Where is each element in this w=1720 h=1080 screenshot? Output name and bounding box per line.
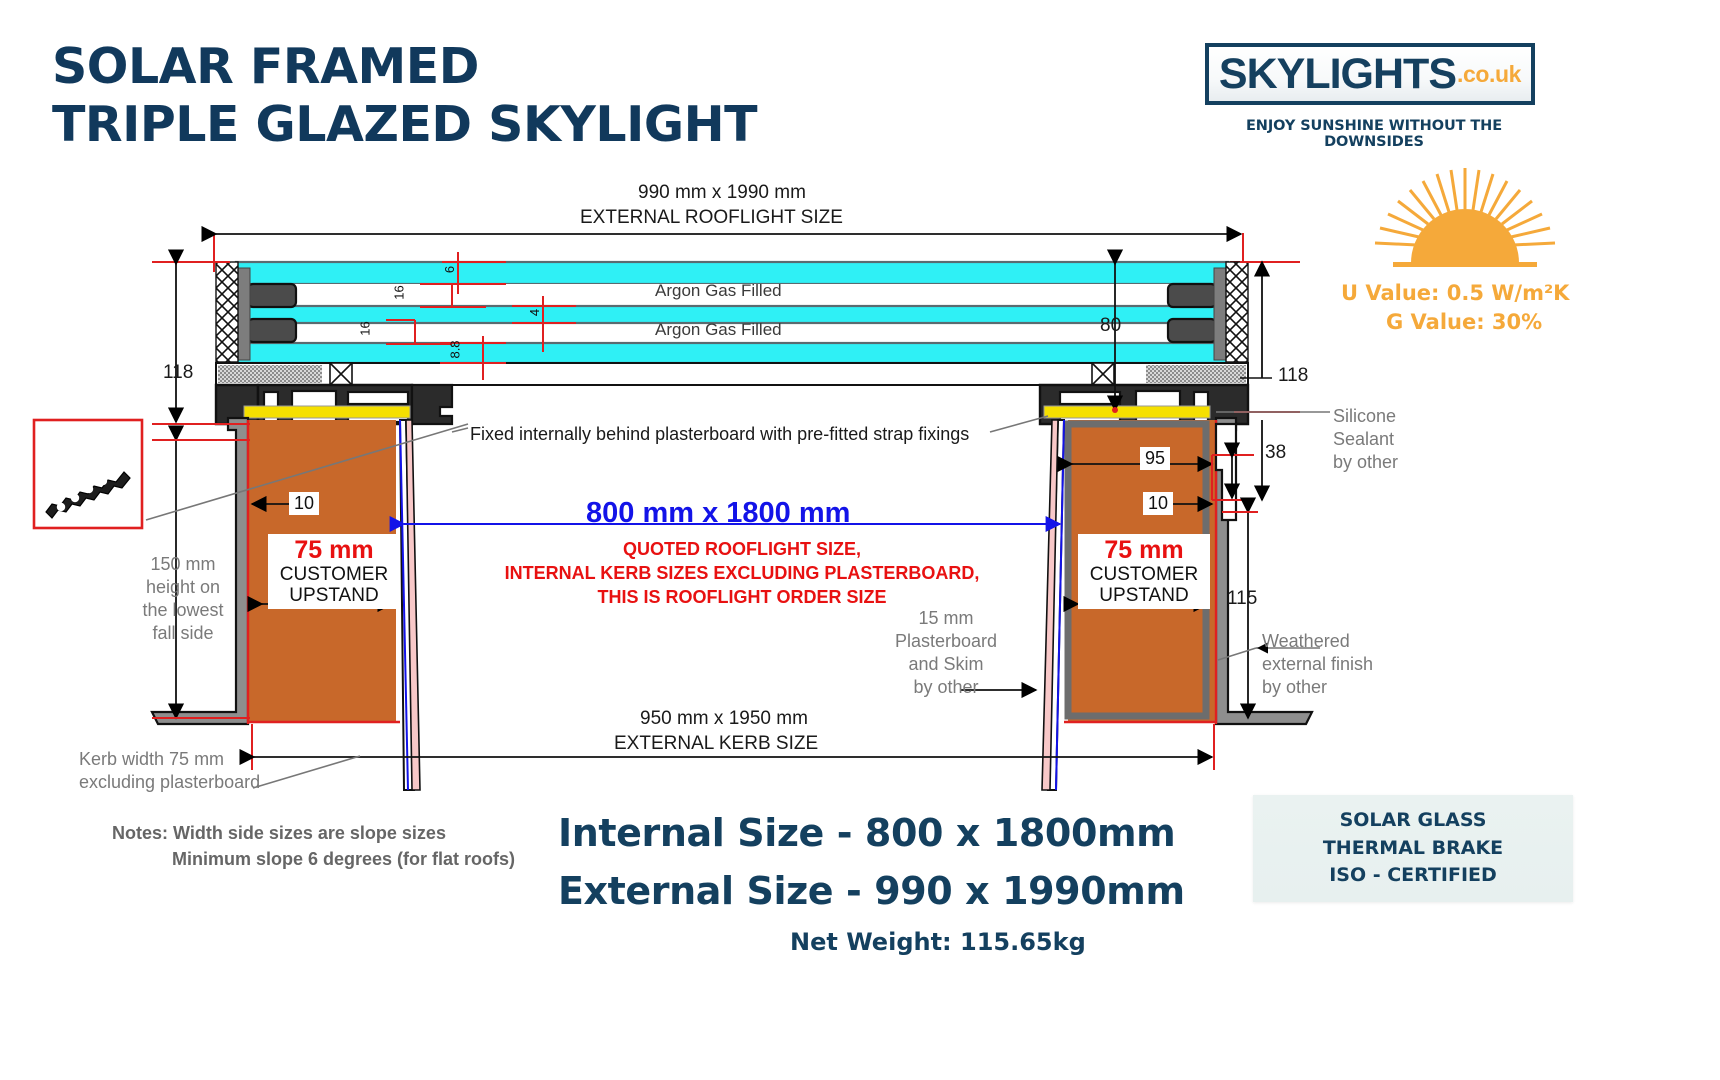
- plasterboard-line-4: by other: [890, 676, 1002, 699]
- plasterboard-line-3: and Skim: [890, 653, 1002, 676]
- weathered-line-2: external finish: [1262, 653, 1373, 676]
- quoted-note-2: INTERNAL KERB SIZES EXCLUDING PLASTERBOA…: [492, 562, 992, 586]
- weathered-line-1: Weathered: [1262, 630, 1373, 653]
- upstand-right-line3: UPSTAND: [1084, 585, 1204, 606]
- weathered-line-3: by other: [1262, 676, 1373, 699]
- fall-side-callout: 150 mm height on the lowest fall side: [128, 553, 238, 645]
- kerb-width-callout: Kerb width 75 mm excluding plasterboard: [79, 748, 260, 794]
- dim-10-left: 10: [289, 492, 319, 515]
- fall-side-line-3: the lowest: [128, 599, 238, 622]
- upstand-right-value: 75 mm: [1084, 536, 1204, 564]
- dim-95: 95: [1140, 447, 1170, 470]
- upstand-right-line2: CUSTOMER: [1084, 564, 1204, 585]
- kerb-width-line-2: excluding plasterboard: [79, 771, 260, 794]
- argon-gas-label-bottom: Argon Gas Filled: [655, 320, 782, 340]
- notes-line-2: Minimum slope 6 degrees (for flat roofs): [112, 846, 515, 872]
- upstand-left-line2: CUSTOMER: [274, 564, 394, 585]
- quoted-note-1: QUOTED ROOFLIGHT SIZE,: [492, 538, 992, 562]
- quoted-rooflight-size: 800 mm x 1800 mm: [586, 497, 850, 530]
- summary-internal-size: Internal Size - 800 x 1800mm: [558, 811, 1175, 855]
- external-kerb-size: 950 mm x 1950 mm: [640, 708, 808, 730]
- dim-10-right: 10: [1143, 492, 1173, 515]
- dim-118-left: 118: [163, 362, 193, 384]
- upstand-label-left: 75 mm CUSTOMER UPSTAND: [268, 534, 400, 609]
- summary-external-size: External Size - 990 x 1990mm: [558, 869, 1185, 913]
- silicone-line-3: by other: [1333, 451, 1398, 474]
- fall-side-line-1: 150 mm: [128, 553, 238, 576]
- badge-line-1: SOLAR GLASS: [1340, 807, 1487, 835]
- kerb-width-line-1: Kerb width 75 mm: [79, 748, 260, 771]
- plasterboard-line-2: Plasterboard: [890, 630, 1002, 653]
- silicone-line-2: Sealant: [1333, 428, 1398, 451]
- weathered-callout: Weathered external finish by other: [1262, 630, 1373, 699]
- plasterboard-callout: 15 mm Plasterboard and Skim by other: [890, 607, 1002, 699]
- dim-80: 80: [1100, 315, 1121, 337]
- quoted-size-notes: QUOTED ROOFLIGHT SIZE, INTERNAL KERB SIZ…: [492, 538, 992, 610]
- external-rooflight-label: EXTERNAL ROOFLIGHT SIZE: [580, 207, 843, 229]
- dim-118-right: 118: [1278, 365, 1308, 387]
- glass-dim-16-upper: 16: [392, 285, 407, 299]
- net-weight: Net Weight: 115.65kg: [790, 928, 1086, 956]
- strap-fixing-callout: Fixed internally behind plasterboard wit…: [470, 424, 969, 445]
- silicone-line-1: Silicone: [1333, 405, 1398, 428]
- badge-line-3: ISO - CERTIFIED: [1329, 862, 1497, 890]
- glass-dim-16-lower: 16: [358, 321, 373, 335]
- upstand-left-line3: UPSTAND: [274, 585, 394, 606]
- argon-gas-label-top: Argon Gas Filled: [655, 281, 782, 301]
- upstand-label-right: 75 mm CUSTOMER UPSTAND: [1078, 534, 1210, 609]
- external-kerb-label: EXTERNAL KERB SIZE: [614, 733, 818, 755]
- notes-block: Notes: Width side sizes are slope sizes …: [112, 820, 515, 872]
- certification-badge: SOLAR GLASS THERMAL BRAKE ISO - CERTIFIE…: [1253, 795, 1573, 902]
- notes-line-1: Notes: Width side sizes are slope sizes: [112, 820, 515, 846]
- silicone-callout: Silicone Sealant by other: [1333, 405, 1398, 474]
- fall-side-line-2: height on: [128, 576, 238, 599]
- external-rooflight-size: 990 mm x 1990 mm: [638, 182, 806, 204]
- plasterboard-line-1: 15 mm: [890, 607, 1002, 630]
- badge-line-2: THERMAL BRAKE: [1323, 835, 1503, 863]
- glass-dim-4: 4: [527, 309, 542, 316]
- fall-side-line-4: fall side: [128, 622, 238, 645]
- upstand-left-value: 75 mm: [274, 536, 394, 564]
- glass-dim-8-8: 8.8: [448, 340, 463, 358]
- dim-115: 115: [1227, 588, 1257, 610]
- glass-dim-6: 6: [442, 266, 457, 273]
- dim-38: 38: [1265, 442, 1286, 464]
